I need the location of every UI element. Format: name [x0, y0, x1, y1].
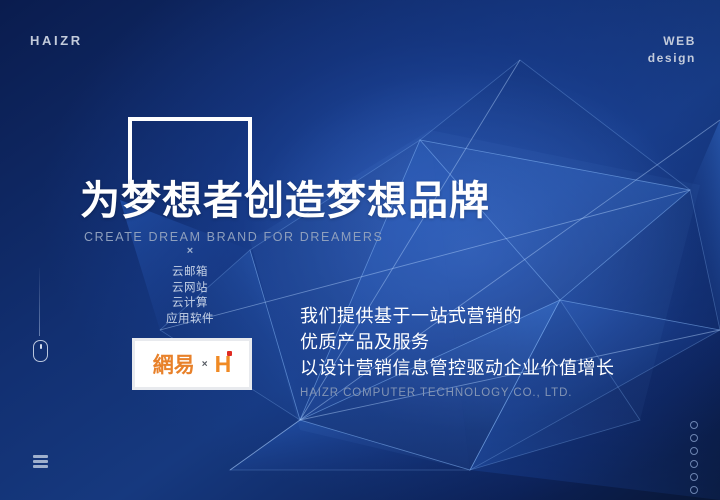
body-copy-block: 我们提供基于一站式营销的 优质产品及服务 以设计营销信息管控驱动企业价值增长 H…	[300, 304, 615, 400]
cross-separator-icon: ×	[128, 245, 252, 257]
body-line-2: 优质产品及服务	[300, 330, 615, 356]
body-line-1: 我们提供基于一站式营销的	[300, 304, 615, 330]
pager-dot[interactable]	[690, 473, 698, 481]
scroll-rail-line	[39, 268, 40, 336]
slide-canvas: HAIZR WEB design 为梦想者创造梦想品牌 CREATE DREAM…	[0, 0, 720, 500]
services-panel: × 云邮箱 云网站 云计算 应用软件	[128, 245, 252, 327]
pager-dot[interactable]	[690, 486, 698, 494]
pager-dot[interactable]	[690, 447, 698, 455]
list-item[interactable]: 云计算	[128, 296, 252, 312]
company-name-en: HAIZR COMPUTER TECHNOLOGY CO., LTD.	[300, 386, 615, 400]
list-item[interactable]: 应用软件	[128, 312, 252, 328]
red-dot-accent	[227, 351, 232, 356]
mouse-scroll-icon[interactable]	[33, 340, 48, 362]
hamburger-menu-icon[interactable]	[33, 455, 48, 468]
brand-logo[interactable]: HAIZR	[30, 33, 83, 48]
list-item[interactable]: 云邮箱	[128, 265, 252, 281]
pager-dot[interactable]	[690, 434, 698, 442]
netease-wordmark: 網易	[153, 349, 195, 379]
hamburger-bar	[33, 455, 48, 458]
hamburger-bar	[33, 465, 48, 468]
body-line-3: 以设计营销信息管控驱动企业价值增长	[300, 356, 615, 382]
partner-logo-box: 網易 × H	[132, 338, 252, 390]
hamburger-bar	[33, 460, 48, 463]
slide-pager[interactable]	[690, 421, 698, 494]
web-design-label: WEB design	[648, 33, 696, 68]
page-title: 为梦想者创造梦想品牌	[80, 181, 490, 221]
pager-dot[interactable]	[690, 421, 698, 429]
haizr-h-mark-icon: H	[215, 353, 232, 376]
design-label: design	[648, 50, 696, 67]
web-label: WEB	[648, 33, 696, 50]
low-poly-background	[0, 0, 720, 500]
services-list: 云邮箱 云网站 云计算 应用软件	[128, 265, 252, 327]
list-item[interactable]: 云网站	[128, 281, 252, 297]
page-subtitle: CREATE DREAM BRAND FOR DREAMERS	[84, 230, 383, 244]
pager-dot[interactable]	[690, 460, 698, 468]
cross-separator-icon: ×	[202, 359, 208, 370]
